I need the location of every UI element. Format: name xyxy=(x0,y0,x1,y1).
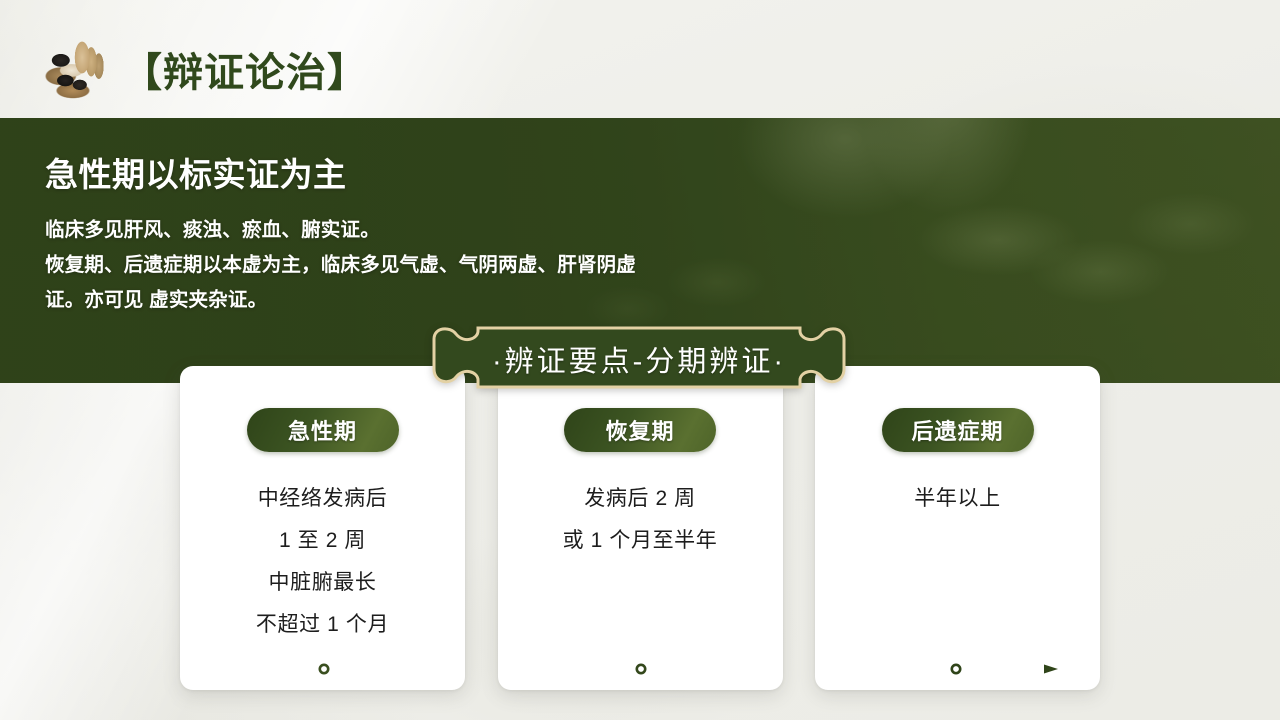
hero-heading: 急性期以标实证为主 xyxy=(45,148,347,196)
phase-card-sequelae[interactable]: 后遗症期 半年以上 xyxy=(815,366,1100,690)
phase-line: 中脏腑最长 xyxy=(269,562,377,604)
ribbon-title: ·辨证要点-分期辨证· xyxy=(416,325,862,393)
phase-badge-recovery: 恢复期 xyxy=(564,408,716,452)
phase-description-sequelae: 半年以上 xyxy=(815,478,1100,520)
phase-line: 1 至 2 周 xyxy=(279,520,366,562)
header-bar: 【辩证论治】 xyxy=(0,0,1280,118)
page-title: 【辩证论治】 xyxy=(122,40,368,98)
phase-badge-sequelae: 后遗症期 xyxy=(882,408,1034,452)
phase-line: 半年以上 xyxy=(914,478,1000,520)
hero-paragraph-line-3: 证。亦可见 虚实夹杂证。 xyxy=(45,283,835,318)
hero-paragraph-line-1: 临床多见肝风、痰浊、瘀血、腑实证。 xyxy=(45,213,835,248)
phase-description-recovery: 发病后 2 周 或 1 个月至半年 xyxy=(498,478,783,562)
hero-paragraph-line-2: 恢复期、后遗症期以本虚为主，临床多见气虚、气阴两虚、肝肾阴虚 xyxy=(45,248,835,283)
phase-line: 或 1 个月至半年 xyxy=(563,520,718,562)
herb-bundle-icon xyxy=(38,33,114,105)
phase-timeline xyxy=(232,660,1062,678)
phase-line: 不超过 1 个月 xyxy=(256,604,389,646)
section-ribbon: ·辨证要点-分期辨证· xyxy=(416,325,862,393)
phase-card-acute[interactable]: 急性期 中经络发病后 1 至 2 周 中脏腑最长 不超过 1 个月 xyxy=(180,366,465,690)
phase-description-acute: 中经络发病后 1 至 2 周 中脏腑最长 不超过 1 个月 xyxy=(180,478,465,646)
timeline-axis-icon xyxy=(232,660,1062,678)
phase-line: 中经络发病后 xyxy=(258,478,388,520)
phase-card-recovery[interactable]: 恢复期 发病后 2 周 或 1 个月至半年 xyxy=(498,366,783,690)
phase-badge-acute: 急性期 xyxy=(247,408,399,452)
phase-line: 发病后 2 周 xyxy=(584,478,696,520)
hero-paragraph: 临床多见肝风、痰浊、瘀血、腑实证。 恢复期、后遗症期以本虚为主，临床多见气虚、气… xyxy=(45,213,835,318)
phase-card-list: 急性期 中经络发病后 1 至 2 周 中脏腑最长 不超过 1 个月 恢复期 发病… xyxy=(180,366,1100,690)
